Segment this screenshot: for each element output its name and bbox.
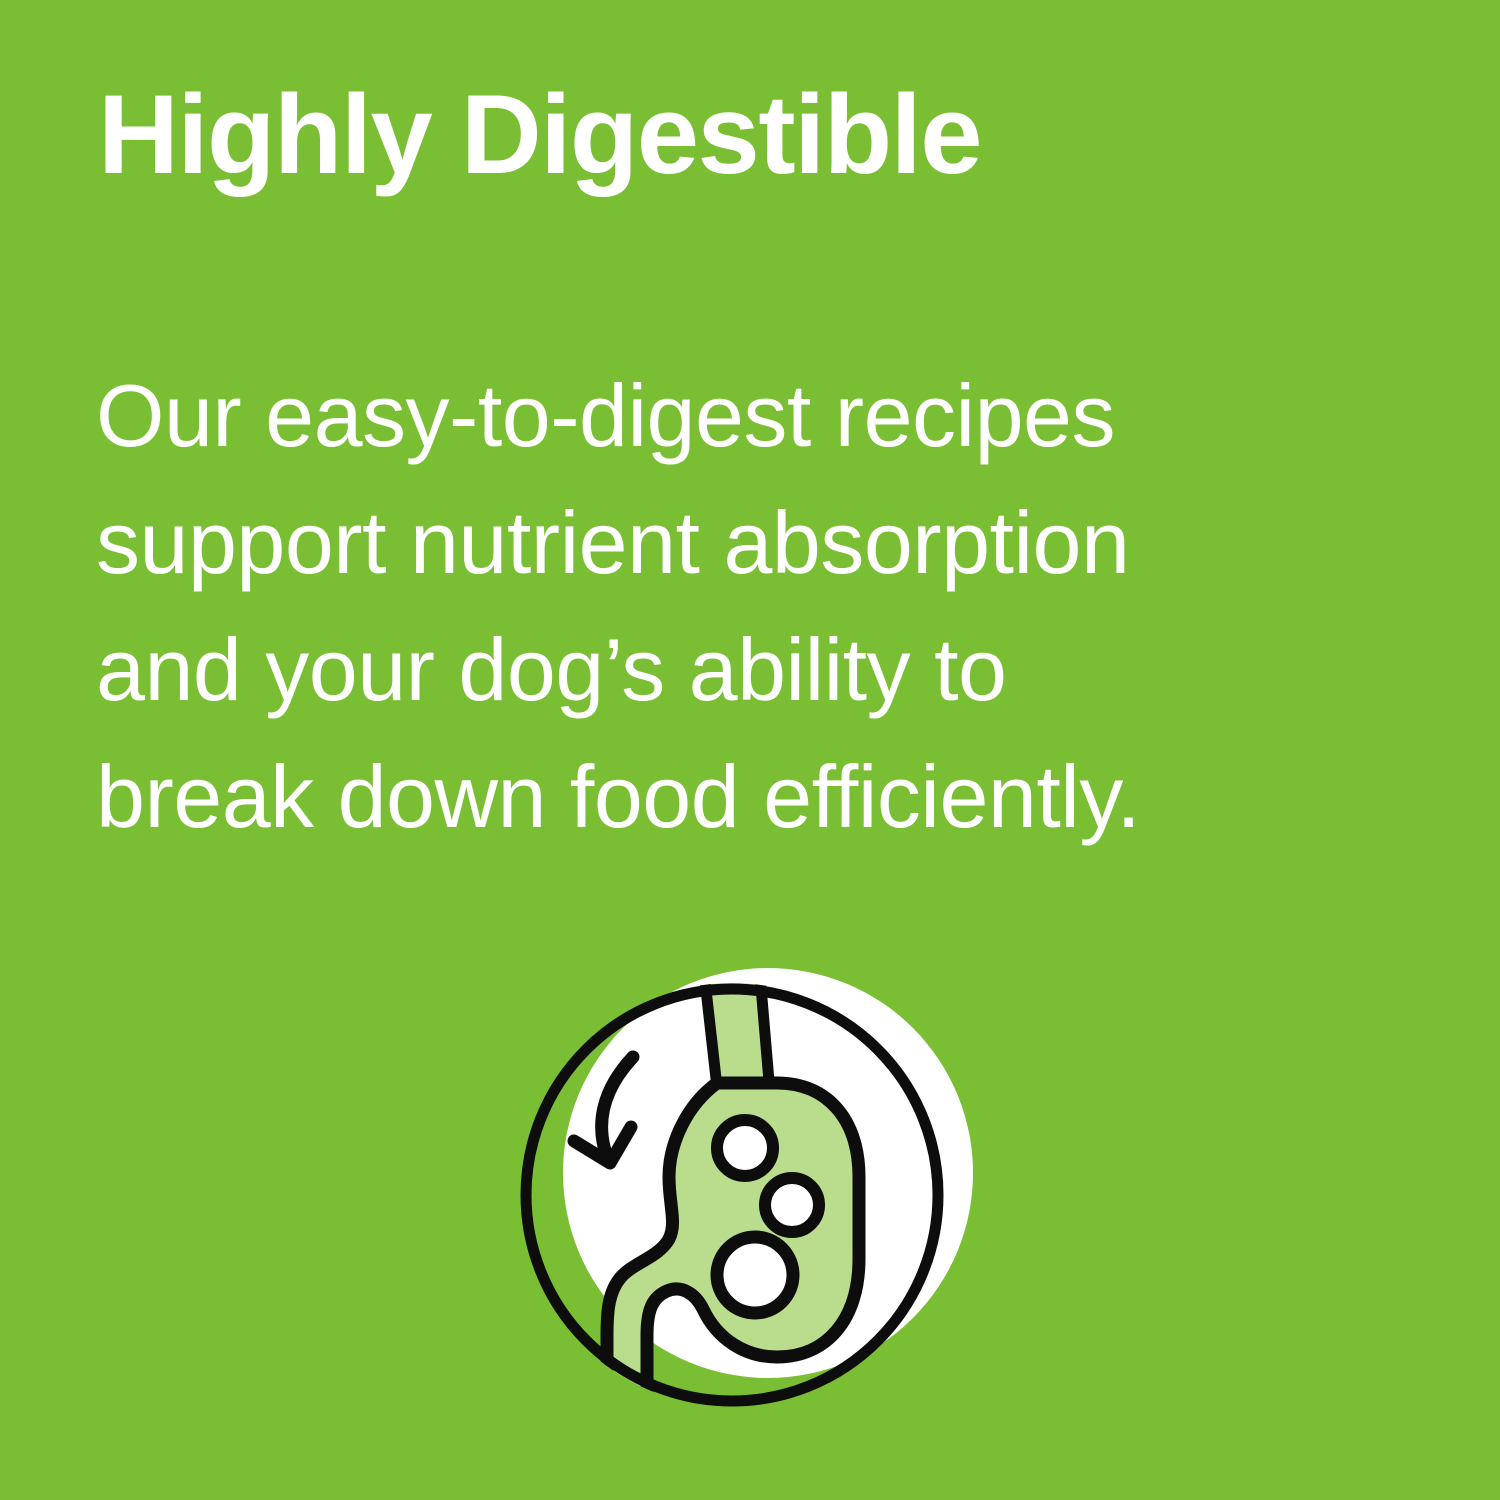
body-paragraph: Our easy-to-digest recipes support nutri… bbox=[96, 352, 1426, 860]
body-line-2: support nutrient absorption bbox=[96, 479, 1426, 606]
body-line-3: and your dog’s ability to bbox=[96, 606, 1426, 733]
bubble-large-bottom bbox=[717, 1237, 793, 1313]
bubble-small-top bbox=[717, 1120, 773, 1176]
bubble-small-middle bbox=[765, 1178, 819, 1232]
promo-card: Highly Digestible Our easy-to-digest rec… bbox=[0, 0, 1500, 1500]
body-line-1: Our easy-to-digest recipes bbox=[96, 352, 1426, 479]
page-title: Highly Digestible bbox=[98, 72, 1438, 197]
stomach-digestion-icon bbox=[455, 905, 1045, 1465]
body-line-4: break down food efficiently. bbox=[96, 733, 1426, 860]
